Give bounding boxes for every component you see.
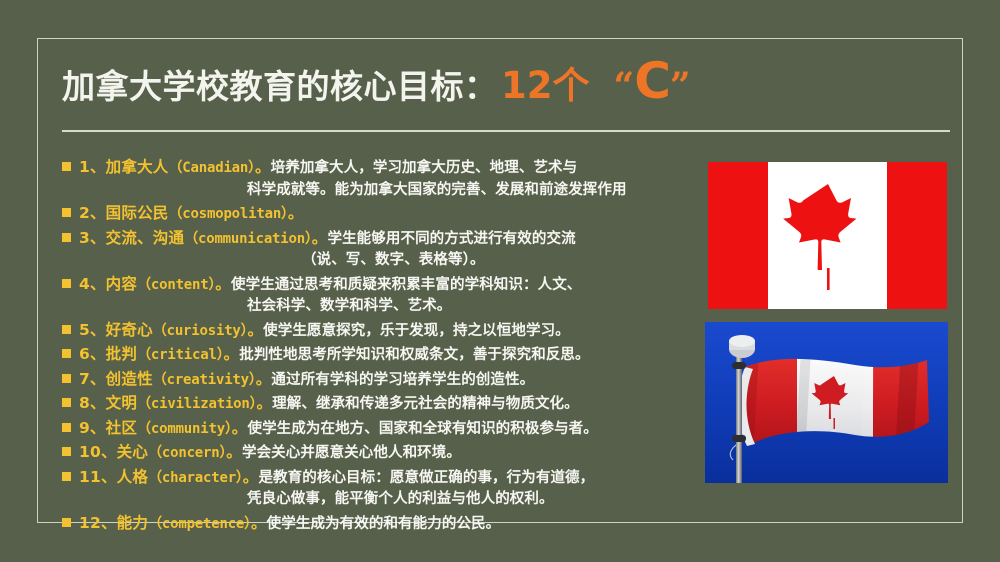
square-bullet-icon [62, 208, 71, 217]
list-item-heading: 12、能力（competence）。 [79, 514, 267, 532]
list-item-heading: 6、批判（critical）。 [79, 345, 239, 363]
list-item-english-term: （critical） [137, 347, 223, 363]
slide-canvas: 加拿大学校教育的核心目标 ： 12个 “C” 1、加拿大人（Canadian）。… [0, 0, 1000, 562]
list-item-period: 。 [251, 514, 267, 532]
list-item-english-term: （competence） [148, 516, 251, 532]
list-item-primary-line: 12、能力（competence）。使学生成为有效的和有能力的公民。 [62, 512, 692, 536]
list-item-heading: 2、国际公民（cosmopolitan）。 [79, 204, 304, 222]
list-item-english-term: （civilization） [137, 396, 256, 412]
title-divider-rule [62, 130, 950, 132]
waving-flag-illustration [705, 322, 948, 483]
title-c-group: “C” [614, 56, 691, 106]
list-item-primary-line: 11、人格（character）。是教育的核心目标：愿意做正确的事，行为有道德， [62, 466, 692, 490]
list-item-heading: 5、好奇心（curiosity）。 [79, 321, 263, 339]
canada-flag-waving-photo [705, 322, 948, 483]
list-item-period: 。 [256, 394, 272, 412]
list-item-heading: 9、社区（community）。 [79, 419, 247, 437]
maple-leaf-icon [778, 180, 878, 292]
list-item-heading: 11、人格（character）。 [79, 468, 258, 486]
list-item-english-term: （Canadian） [169, 160, 255, 176]
title-letter-c: C [634, 52, 670, 110]
list-item-primary-line: 8、文明（civilization）。理解、继承和传递多元社会的精神与物质文化。 [62, 392, 692, 416]
square-bullet-icon [62, 472, 71, 481]
list-item-primary-line: 5、好奇心（curiosity）。使学生愿意探究，乐于发现，持之以恒地学习。 [62, 319, 692, 343]
list-item-english-term: （communication） [184, 231, 312, 247]
list-item: 8、文明（civilization）。理解、继承和传递多元社会的精神与物质文化。 [62, 392, 692, 416]
list-item: 12、能力（competence）。使学生成为有效的和有能力的公民。 [62, 512, 692, 536]
list-item-heading: 4、内容（content）。 [79, 275, 231, 293]
list-item-english-term: （character） [148, 470, 243, 486]
list-item-period: 。 [224, 345, 240, 363]
flag-right-red-band [887, 162, 947, 309]
list-item: 4、内容（content）。使学生通过思考和质疑来积累丰富的学科知识：人文、社会… [62, 273, 692, 318]
list-item-description: 学生能够用不同的方式进行有效的交流 [327, 231, 575, 247]
list-item-primary-line: 2、国际公民（cosmopolitan）。 [62, 202, 692, 226]
objectives-list: 1、加拿大人（Canadian）。培养加拿大人，学习加拿大历史、地理、艺术与科学… [62, 156, 692, 536]
page-title: 加拿大学校教育的核心目标 ： 12个 “C” [62, 56, 952, 118]
flag-left-red-band [708, 162, 768, 309]
list-item: 7、创造性（creativity）。通过所有学科的学习培养学生的创造性。 [62, 368, 692, 392]
list-item-period: 。 [247, 321, 263, 339]
title-quote-open: “ [614, 65, 635, 107]
list-item-period: 。 [232, 419, 248, 437]
list-item-period: 。 [256, 370, 272, 388]
list-item-primary-line: 4、内容（content）。使学生通过思考和质疑来积累丰富的学科知识：人文、 [62, 273, 692, 297]
list-item-period: 。 [255, 158, 271, 176]
title-colon: ： [464, 70, 497, 103]
square-bullet-icon [62, 325, 71, 334]
list-item-english-term: （content） [137, 277, 215, 293]
list-item-description: 通过所有学科的学习培养学生的创造性。 [271, 372, 534, 388]
list-item-primary-line: 10、关心（concern）。学会关心并愿意关心他人和环境。 [62, 441, 692, 465]
square-bullet-icon [62, 518, 71, 527]
list-item-period: 。 [243, 468, 259, 486]
list-item-heading: 3、交流、沟通（communication）。 [79, 229, 327, 247]
list-item-primary-line: 9、社区（community）。使学生成为在地方、国家和全球有知识的积极参与者。 [62, 417, 692, 441]
list-item-english-term: （community） [137, 421, 232, 437]
list-item: 3、交流、沟通（communication）。学生能够用不同的方式进行有效的交流… [62, 227, 692, 272]
list-item-description: 使学生愿意探究，乐于发现，持之以恒地学习。 [263, 323, 570, 339]
square-bullet-icon [62, 349, 71, 358]
list-item-primary-line: 3、交流、沟通（communication）。学生能够用不同的方式进行有效的交流 [62, 227, 692, 251]
list-item-continuation-line: （说、写、数字、表格等）。 [62, 250, 692, 272]
list-item: 2、国际公民（cosmopolitan）。 [62, 202, 692, 226]
list-item-description: 培养加拿大人，学习加拿大历史、地理、艺术与 [271, 160, 578, 176]
list-item-primary-line: 6、批判（critical）。批判性地思考所学知识和权威条文，善于探究和反思。 [62, 343, 692, 367]
list-item: 5、好奇心（curiosity）。使学生愿意探究，乐于发现，持之以恒地学习。 [62, 319, 692, 343]
list-item-period: 。 [288, 204, 304, 222]
square-bullet-icon [62, 398, 71, 407]
list-item: 11、人格（character）。是教育的核心目标：愿意做正确的事，行为有道德，… [62, 466, 692, 511]
list-item-continuation-line: 科学成就等。能为加拿大国家的完善、发展和前途发挥作用 [62, 180, 692, 202]
list-item-description: 理解、继承和传递多元社会的精神与物质文化。 [272, 396, 579, 412]
square-bullet-icon [62, 374, 71, 383]
list-item-heading: 8、文明（civilization）。 [79, 394, 272, 412]
list-item-description: 使学生成为在地方、国家和全球有知识的积极参与者。 [247, 421, 597, 437]
list-item: 1、加拿大人（Canadian）。培养加拿大人，学习加拿大历史、地理、艺术与科学… [62, 156, 692, 201]
square-bullet-icon [62, 279, 71, 288]
list-item: 10、关心（concern）。学会关心并愿意关心他人和环境。 [62, 441, 692, 465]
list-item-heading: 7、创造性（creativity）。 [79, 370, 271, 388]
list-item-description: 使学生成为有效的和有能力的公民。 [267, 516, 501, 532]
list-item-description: 学会关心并愿意关心他人和环境。 [242, 445, 461, 461]
list-item: 9、社区（community）。使学生成为在地方、国家和全球有知识的积极参与者。 [62, 417, 692, 441]
list-item-english-term: （cosmopolitan） [169, 206, 288, 222]
list-item-heading: 10、关心（concern）。 [79, 443, 242, 461]
title-quote-close: ” [670, 65, 691, 107]
square-bullet-icon [62, 162, 71, 171]
list-item-primary-line: 7、创造性（creativity）。通过所有学科的学习培养学生的创造性。 [62, 368, 692, 392]
list-item-description: 使学生通过思考和质疑来积累丰富的学科知识：人文、 [231, 277, 581, 293]
square-bullet-icon [62, 233, 71, 242]
canada-flag-flat-image [708, 162, 947, 309]
square-bullet-icon [62, 423, 71, 432]
list-item-period: 。 [312, 229, 328, 247]
list-item-period: 。 [226, 443, 242, 461]
list-item: 6、批判（critical）。批判性地思考所学知识和权威条文，善于探究和反思。 [62, 343, 692, 367]
list-item-english-term: （curiosity） [153, 323, 248, 339]
title-accent-count: 12个 [501, 67, 590, 104]
list-item-english-term: （creativity） [153, 372, 256, 388]
list-item-heading: 1、加拿大人（Canadian）。 [79, 158, 271, 176]
list-item-continuation-line: 社会科学、数学和科学、艺术。 [62, 296, 692, 318]
list-item-primary-line: 1、加拿大人（Canadian）。培养加拿大人，学习加拿大历史、地理、艺术与 [62, 156, 692, 180]
list-item-english-term: （concern） [148, 445, 226, 461]
list-item-continuation-line: 凭良心做事，能平衡个人的利益与他人的权利。 [62, 489, 692, 511]
list-item-period: 。 [215, 275, 231, 293]
list-item-description: 批判性地思考所学知识和权威条文，善于探究和反思。 [239, 347, 589, 363]
title-main-text: 加拿大学校教育的核心目标 [62, 70, 464, 103]
list-item-description: 是教育的核心目标：愿意做正确的事，行为有道德， [258, 470, 594, 486]
square-bullet-icon [62, 447, 71, 456]
